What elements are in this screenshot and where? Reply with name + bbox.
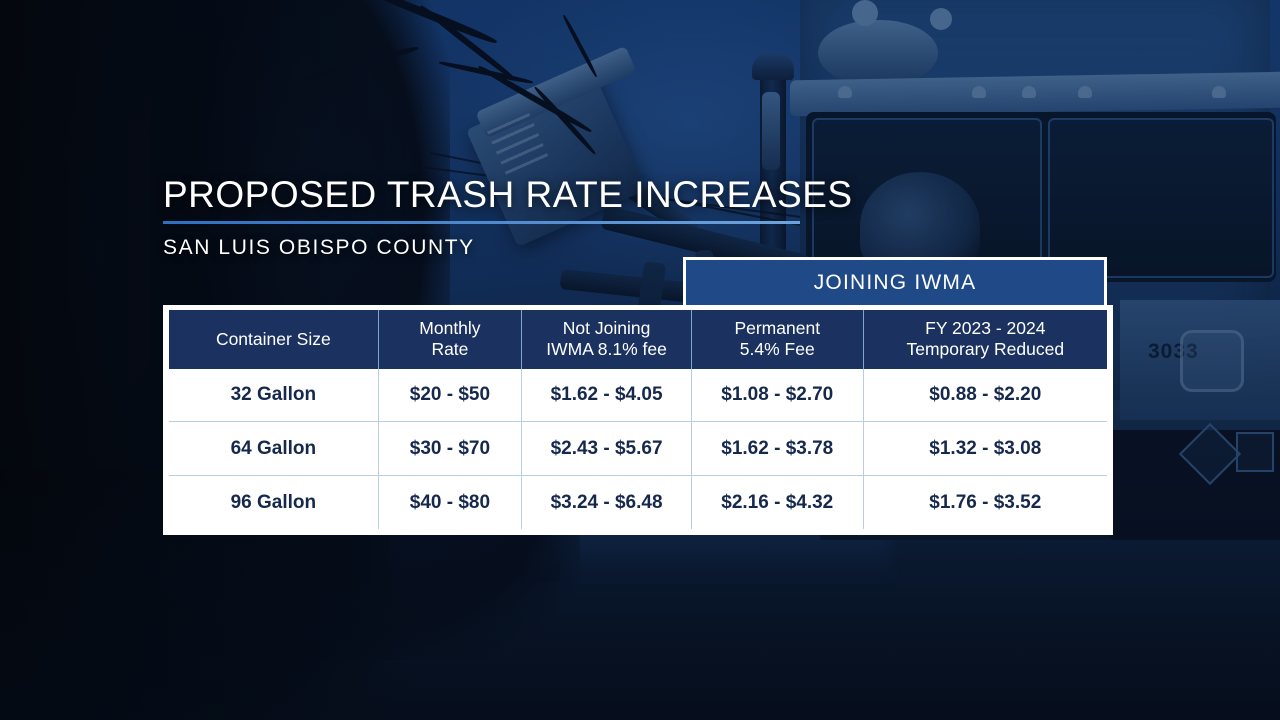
cell-permanent-fee: $1.62 - $3.78: [691, 422, 863, 476]
col-header-container-size: Container Size: [169, 310, 378, 369]
title-accent-rule: [163, 221, 800, 224]
header-line: FY 2023 - 2024: [925, 318, 1045, 338]
joining-iwma-banner: JOINING IWMA: [683, 257, 1107, 305]
cell-container-size: 96 Gallon: [169, 476, 378, 529]
header-line: Permanent: [734, 318, 820, 338]
header-line: 5.4% Fee: [740, 339, 815, 359]
header-line: Rate: [431, 339, 468, 359]
cell-monthly-rate: $30 - $70: [378, 422, 522, 476]
rates-table: Container Size Monthly Rate Not Joining …: [169, 310, 1107, 529]
cell-not-joining: $1.62 - $4.05: [522, 369, 692, 422]
table-header-row: Container Size Monthly Rate Not Joining …: [169, 310, 1107, 369]
table-row: 96 Gallon $40 - $80 $3.24 - $6.48 $2.16 …: [169, 476, 1107, 529]
col-header-temporary-reduced: FY 2023 - 2024 Temporary Reduced: [863, 310, 1107, 369]
cell-temporary-reduced: $1.32 - $3.08: [863, 422, 1107, 476]
rates-table-container: Container Size Monthly Rate Not Joining …: [163, 305, 1113, 535]
col-header-not-joining-iwma: Not Joining IWMA 8.1% fee: [522, 310, 692, 369]
header-line: Temporary Reduced: [907, 339, 1065, 359]
header-line: Not Joining: [563, 318, 651, 338]
cell-monthly-rate: $20 - $50: [378, 369, 522, 422]
col-header-monthly-rate: Monthly Rate: [378, 310, 522, 369]
cell-not-joining: $3.24 - $6.48: [522, 476, 692, 529]
table-body: 32 Gallon $20 - $50 $1.62 - $4.05 $1.08 …: [169, 369, 1107, 529]
table-row: 64 Gallon $30 - $70 $2.43 - $5.67 $1.62 …: [169, 422, 1107, 476]
cell-monthly-rate: $40 - $80: [378, 476, 522, 529]
broadcast-graphic: 3033 PROPOSED TRASH RATE INCREASES SAN L…: [0, 0, 1280, 720]
header-line: Container Size: [216, 329, 331, 349]
cell-permanent-fee: $1.08 - $2.70: [691, 369, 863, 422]
cell-not-joining: $2.43 - $5.67: [522, 422, 692, 476]
page-title: PROPOSED TRASH RATE INCREASES: [163, 174, 853, 216]
cell-container-size: 32 Gallon: [169, 369, 378, 422]
table-head: Container Size Monthly Rate Not Joining …: [169, 310, 1107, 369]
cell-container-size: 64 Gallon: [169, 422, 378, 476]
header-line: Monthly: [419, 318, 480, 338]
col-header-permanent-fee: Permanent 5.4% Fee: [691, 310, 863, 369]
cell-permanent-fee: $2.16 - $4.32: [691, 476, 863, 529]
table-row: 32 Gallon $20 - $50 $1.62 - $4.05 $1.08 …: [169, 369, 1107, 422]
page-subtitle: SAN LUIS OBISPO COUNTY: [163, 236, 475, 260]
cell-temporary-reduced: $0.88 - $2.20: [863, 369, 1107, 422]
header-line: IWMA 8.1% fee: [546, 339, 667, 359]
cell-temporary-reduced: $1.76 - $3.52: [863, 476, 1107, 529]
joining-iwma-banner-label: JOINING IWMA: [814, 271, 977, 295]
